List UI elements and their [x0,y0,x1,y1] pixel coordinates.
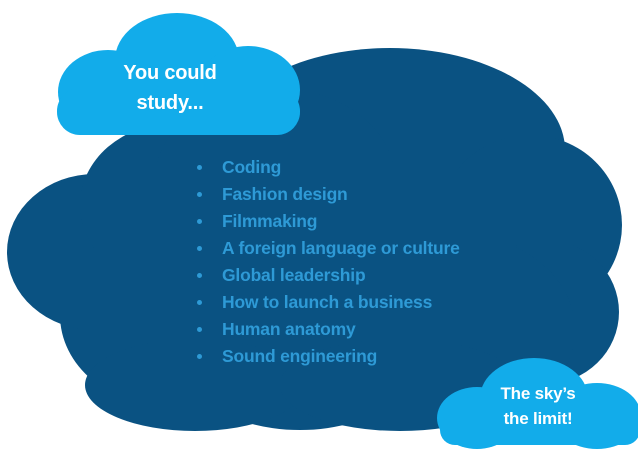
callout-top-left-label: You could study... [95,58,245,118]
dot-bullet-icon [197,273,202,278]
list-item-label: A foreign language or culture [222,238,460,258]
list-item: Fashion design [196,181,460,208]
list-item-label: Coding [222,157,281,177]
list-item-label: Sound engineering [222,346,377,366]
dot-bullet-icon [197,300,202,305]
list-item: A foreign language or culture [196,235,460,262]
list-item-label: Human anatomy [222,319,356,339]
list-item: Human anatomy [196,316,460,343]
callout-bottom-right-label: The sky’s the limit! [468,381,608,431]
dot-bullet-icon [197,192,202,197]
study-list: Coding Fashion design Filmmaking A forei… [196,154,460,370]
dot-bullet-icon [197,219,202,224]
dot-bullet-icon [197,165,202,170]
dot-bullet-icon [197,246,202,251]
list-item: Sound engineering [196,343,460,370]
list-item: Coding [196,154,460,181]
list-item: Global leadership [196,262,460,289]
list-item-label: How to launch a business [222,292,432,312]
list-item: Filmmaking [196,208,460,235]
list-item-label: Global leadership [222,265,365,285]
infographic-canvas: You could study... Coding Fashion design… [0,0,638,464]
dot-bullet-icon [197,354,202,359]
list-item-label: Fashion design [222,184,348,204]
list-item-label: Filmmaking [222,211,317,231]
dot-bullet-icon [197,327,202,332]
list-item: How to launch a business [196,289,460,316]
